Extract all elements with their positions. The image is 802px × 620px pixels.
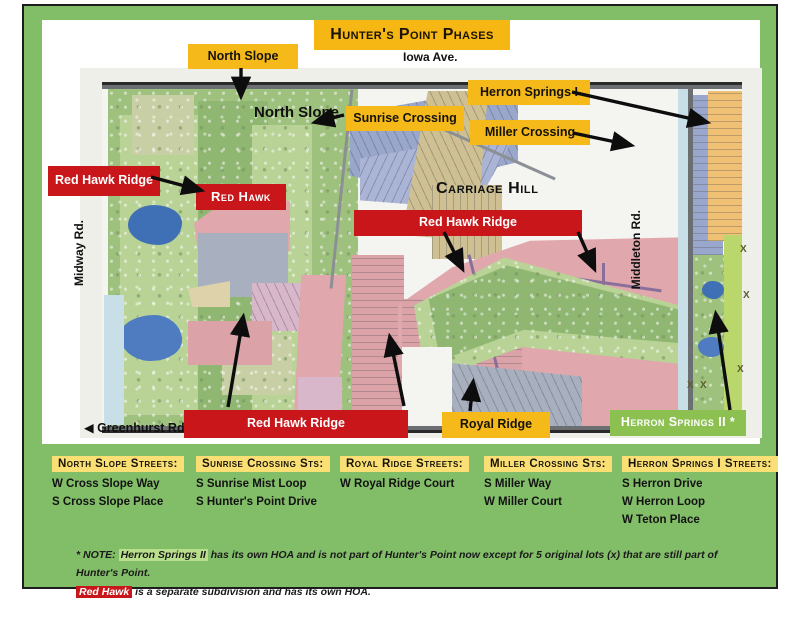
callout-red-hawk-ridge-left[interactable]: Red Hawk Ridge <box>48 166 160 196</box>
legend-column-sunrise-crossing: Sunrise Crossing Sts: S Sunrise Mist Loo… <box>196 454 356 508</box>
legend-column-herron-springs-i: Herron Springs I Streets: S Herron Drive… <box>622 454 782 526</box>
note-highlight-herron-springs-ii: Herron Springs II <box>119 549 208 561</box>
callout-royal-ridge[interactable]: Royal Ridge <box>442 412 550 438</box>
legend-heading: Royal Ridge Streets: <box>340 456 469 472</box>
callout-red-hawk-ridge-bottom[interactable]: Red Hawk Ridge <box>184 410 408 438</box>
map-label-red-hawk[interactable]: Red Hawk <box>196 184 286 210</box>
lot-marker-x: X <box>743 290 750 301</box>
lot-marker-x: X <box>737 364 744 375</box>
callout-herron-springs-i[interactable]: Herron Springs I <box>468 80 590 105</box>
legend-street: W Miller Court <box>484 496 634 508</box>
note-prefix: * NOTE: <box>76 549 119 561</box>
map-label-carriage-hill: Carriage Hill <box>436 180 539 198</box>
legend-column-royal-ridge: Royal Ridge Streets: W Royal Ridge Court <box>340 454 488 490</box>
callout-herron-springs-ii[interactable]: Herron Springs II * <box>610 410 746 436</box>
legend-street: W Royal Ridge Court <box>340 478 488 490</box>
legend-street: S Herron Drive <box>622 478 782 490</box>
note-highlight-red-hawk: Red Hawk <box>76 586 132 598</box>
street-legend: North Slope Streets: W Cross Slope Way S… <box>42 454 760 542</box>
legend-street: W Teton Place <box>622 514 782 526</box>
lot-marker-x: X <box>687 380 694 391</box>
map-label-north-slope: North Slope <box>254 104 339 121</box>
legend-heading: North Slope Streets: <box>52 456 184 472</box>
road-label-middleton-rd: Middleton Rd. <box>629 210 643 289</box>
legend-column-north-slope: North Slope Streets: W Cross Slope Way S… <box>52 454 212 508</box>
legend-column-miller-crossing: Miller Crossing Sts: S Miller Way W Mill… <box>484 454 634 508</box>
legend-street: S Sunrise Mist Loop <box>196 478 356 490</box>
legend-street: S Miller Way <box>484 478 634 490</box>
poster-title: Hunter's Point Phases <box>314 20 510 50</box>
road-label-midway-rd: Midway Rd. <box>72 220 86 286</box>
legend-heading: Sunrise Crossing Sts: <box>196 456 330 472</box>
callout-red-hawk-ridge-mid[interactable]: Red Hawk Ridge <box>354 210 582 236</box>
green-frame: North Slope Carriage Hill X X X X X Iowa… <box>22 4 778 589</box>
map-canvas <box>102 82 742 433</box>
callout-sunrise-crossing[interactable]: Sunrise Crossing <box>346 106 464 131</box>
road-label-iowa-ave: Iowa Ave. <box>403 50 457 64</box>
callout-miller-crossing[interactable]: Miller Crossing <box>470 120 590 145</box>
callout-north-slope[interactable]: North Slope <box>188 44 298 69</box>
legend-street: W Herron Loop <box>622 496 782 508</box>
note-line2-rest: is a separate subdivision and has its ow… <box>132 586 371 598</box>
poster-page: North Slope Carriage Hill X X X X X Iowa… <box>0 0 802 620</box>
lot-marker-x: X <box>740 244 747 255</box>
legend-heading: Herron Springs I Streets: <box>622 456 778 472</box>
legend-street: S Hunter's Point Drive <box>196 496 356 508</box>
lot-marker-x: X <box>700 380 707 391</box>
footnote: * NOTE: Herron Springs II has its own HO… <box>76 546 756 601</box>
legend-heading: Miller Crossing Sts: <box>484 456 612 472</box>
legend-street: S Cross Slope Place <box>52 496 212 508</box>
legend-street: W Cross Slope Way <box>52 478 212 490</box>
